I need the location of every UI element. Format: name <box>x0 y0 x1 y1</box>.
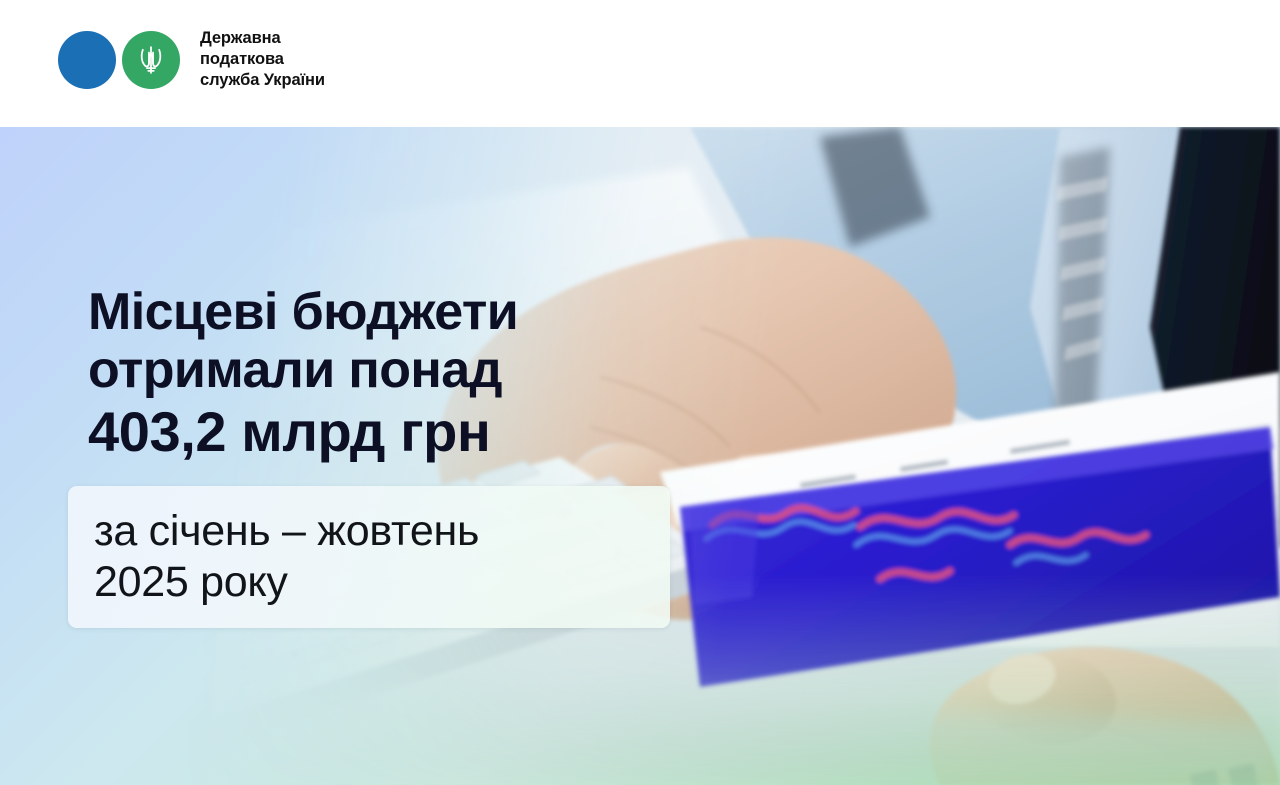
logo-blue-circle-icon <box>58 31 116 89</box>
infographic-poster: + ÷ × − 7 8 9 4 1 2 3 5 0 . = <box>0 0 1280 785</box>
logo-green-circle-icon <box>122 31 180 89</box>
logo-text-line-3: служба України <box>200 70 325 91</box>
subtitle-text: за січень – жовтень 2025 року <box>68 506 479 607</box>
logo-text-line-2: податкова <box>200 49 325 70</box>
header-band: Державна податкова служба України <box>0 0 1280 127</box>
subtitle-line-2: 2025 року <box>94 557 479 608</box>
headline: Місцеві бюджети отримали понад 403,2 млр… <box>88 284 518 464</box>
logo-marks <box>58 31 180 89</box>
subtitle-line-1: за січень – жовтень <box>94 506 479 557</box>
headline-amount: 403,2 млрд грн <box>88 401 518 463</box>
logo-text-line-1: Державна <box>200 28 325 49</box>
headline-line-1: Місцеві бюджети <box>88 284 518 342</box>
subtitle-card: за січень – жовтень 2025 року <box>68 486 670 628</box>
headline-line-2: отримали понад <box>88 342 518 400</box>
organization-logo: Державна податкова служба України <box>58 28 325 91</box>
ukraine-trident-icon <box>137 43 165 77</box>
logo-text: Державна податкова служба України <box>200 28 325 91</box>
